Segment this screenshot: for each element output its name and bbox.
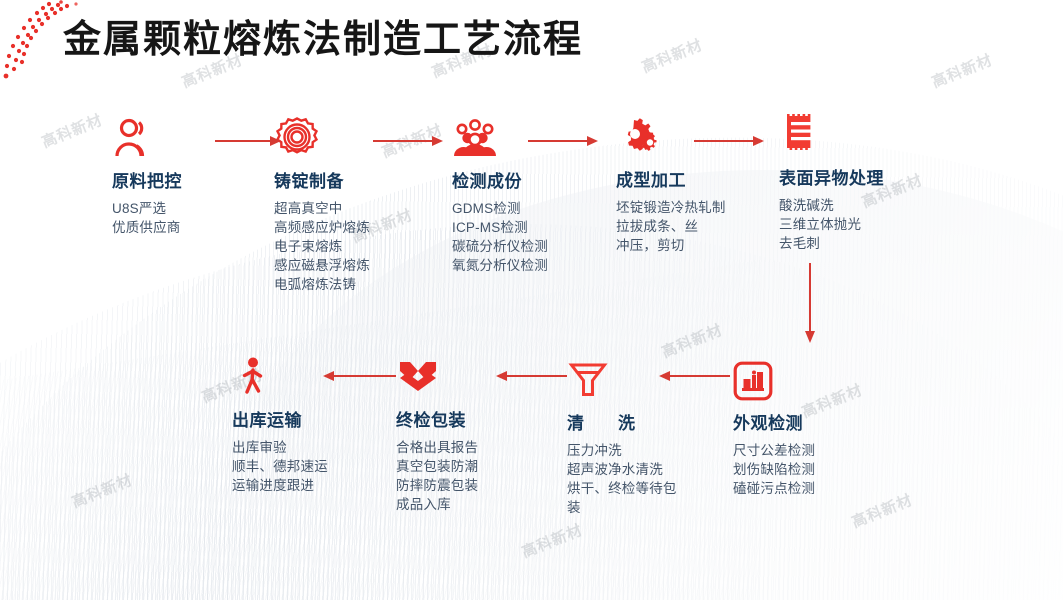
detail-line: 超声波净水清洗	[567, 460, 687, 479]
flow-node-detail-list: 酸洗碱洗 三维立体抛光 去毛刺	[779, 196, 884, 253]
factory-box-icon	[733, 355, 815, 401]
flow-node-title: 铸锭制备	[274, 167, 370, 192]
watermark: 高科新材	[518, 519, 585, 562]
detail-line: 感应磁悬浮熔炼	[274, 256, 370, 275]
flow-node-detail-list: GDMS检测 ICP-MS检测 碳硫分析仪检测 氧氮分析仪检测	[452, 199, 548, 275]
detail-line: 氧氮分析仪检测	[452, 256, 548, 275]
detail-line: 压力冲洗	[567, 441, 687, 460]
detail-line: 真空包装防潮	[396, 457, 516, 476]
flow-node-step-9[interactable]: 出库运输 出库审验 顺丰、德邦速运 运输进度跟进	[232, 352, 328, 495]
flow-node-title: 成型加工	[616, 166, 726, 191]
detail-line: 成品入库	[396, 495, 516, 514]
flow-node-step-1[interactable]: 原料把控 U8S严选 优质供应商	[112, 113, 182, 237]
background-haze	[0, 0, 1063, 600]
page-title: 金属颗粒熔炼法制造工艺流程	[63, 8, 583, 63]
detail-line: 出库审验	[232, 438, 328, 457]
flow-node-title: 终检包装	[396, 406, 516, 431]
watermark: 高科新材	[38, 109, 105, 152]
flow-node-detail-list: 压力冲洗 超声波净水清洗 烘干、终检等待包装	[567, 441, 695, 517]
background-decoration	[0, 0, 1063, 600]
background-swoosh-a	[0, 15, 1063, 600]
flow-node-title: 原料把控	[112, 167, 182, 192]
flow-node-detail-list: U8S严选 优质供应商	[112, 199, 182, 237]
walking-person-icon	[232, 352, 328, 398]
arrow-1-2	[215, 135, 283, 147]
detail-line: 磕碰污点检测	[733, 479, 815, 498]
flow-node-detail-list: 合格出具报告 真空包装防潮 防摔防震包装 成品入库	[396, 438, 516, 514]
flow-node-title: 检测成份	[452, 167, 548, 192]
flow-node-detail-list: 尺寸公差检测 划伤缺陷检测 磕碰污点检测	[733, 441, 815, 498]
watermark: 高科新材	[928, 49, 995, 92]
detail-line: 冲压，剪切	[616, 236, 726, 255]
flow-node-detail-list: 出库审验 顺丰、德邦速运 运输进度跟进	[232, 438, 328, 495]
detail-line: 运输进度跟进	[232, 476, 328, 495]
flow-node-title: 清 洗	[567, 409, 695, 434]
watermark: 高科新材	[848, 489, 915, 532]
detail-line: 坯锭锻造冷热轧制	[616, 198, 726, 217]
flow-node-step-6[interactable]: 外观检测 尺寸公差检测 划伤缺陷检测 磕碰污点检测	[733, 355, 815, 498]
detail-line: 去毛刺	[779, 234, 884, 253]
flow-node-detail-list: 坯锭锻造冷热轧制 拉拔成条、丝 冲压，剪切	[616, 198, 726, 255]
detail-line: 烘干、终检等待包装	[567, 479, 687, 517]
detail-line: U8S严选	[112, 199, 182, 218]
detail-line: 超高真空中	[274, 199, 370, 218]
flow-node-step-4[interactable]: 成型加工 坯锭锻造冷热轧制 拉拔成条、丝 冲压，剪切	[616, 112, 726, 255]
detail-line: 顺丰、德邦速运	[232, 457, 328, 476]
arrow-8-9	[320, 370, 396, 382]
detail-line: 合格出具报告	[396, 438, 516, 457]
flow-node-title: 外观检测	[733, 409, 815, 434]
detail-line: 电子束熔炼	[274, 237, 370, 256]
detail-line: 尺寸公差检测	[733, 441, 815, 460]
detail-line: 划伤缺陷检测	[733, 460, 815, 479]
detail-line: 防摔防震包装	[396, 476, 516, 495]
flow-node-step-5[interactable]: 表面异物处理 酸洗碱洗 三维立体抛光 去毛刺	[779, 110, 884, 253]
watermark: 高科新材	[68, 469, 135, 512]
detail-line: 高频感应炉熔炼	[274, 218, 370, 237]
arrow-7-8	[493, 370, 567, 382]
arrow-3-4	[528, 135, 600, 147]
detail-line: GDMS检测	[452, 199, 548, 218]
detail-line: 拉拔成条、丝	[616, 217, 726, 236]
detail-line: 三维立体抛光	[779, 215, 884, 234]
detail-line: 酸洗碱洗	[779, 196, 884, 215]
detail-line: 优质供应商	[112, 218, 182, 237]
flow-node-detail-list: 超高真空中 高频感应炉熔炼 电子束熔炼 感应磁悬浮熔炼 电弧熔炼法铸	[274, 199, 370, 294]
detail-line: 电弧熔炼法铸	[274, 275, 370, 294]
arrow-5-6	[804, 263, 816, 345]
arrow-2-3	[373, 135, 445, 147]
detail-line: ICP-MS检测	[452, 218, 548, 237]
flow-node-title: 出库运输	[232, 406, 328, 431]
flow-node-step-2[interactable]: 铸锭制备 超高真空中 高频感应炉熔炼 电子束熔炼 感应磁悬浮熔炼 电弧熔炼法铸	[274, 113, 370, 294]
watermark: 高科新材	[638, 34, 705, 77]
arrow-6-7	[656, 370, 730, 382]
arrow-4-5	[694, 135, 766, 147]
detail-line: 碳硫分析仪检测	[452, 237, 548, 256]
document-lines-icon	[779, 110, 884, 156]
flow-node-title: 表面异物处理	[779, 164, 884, 189]
gear-rings-icon	[274, 113, 370, 159]
users-outline-icon	[112, 113, 182, 159]
